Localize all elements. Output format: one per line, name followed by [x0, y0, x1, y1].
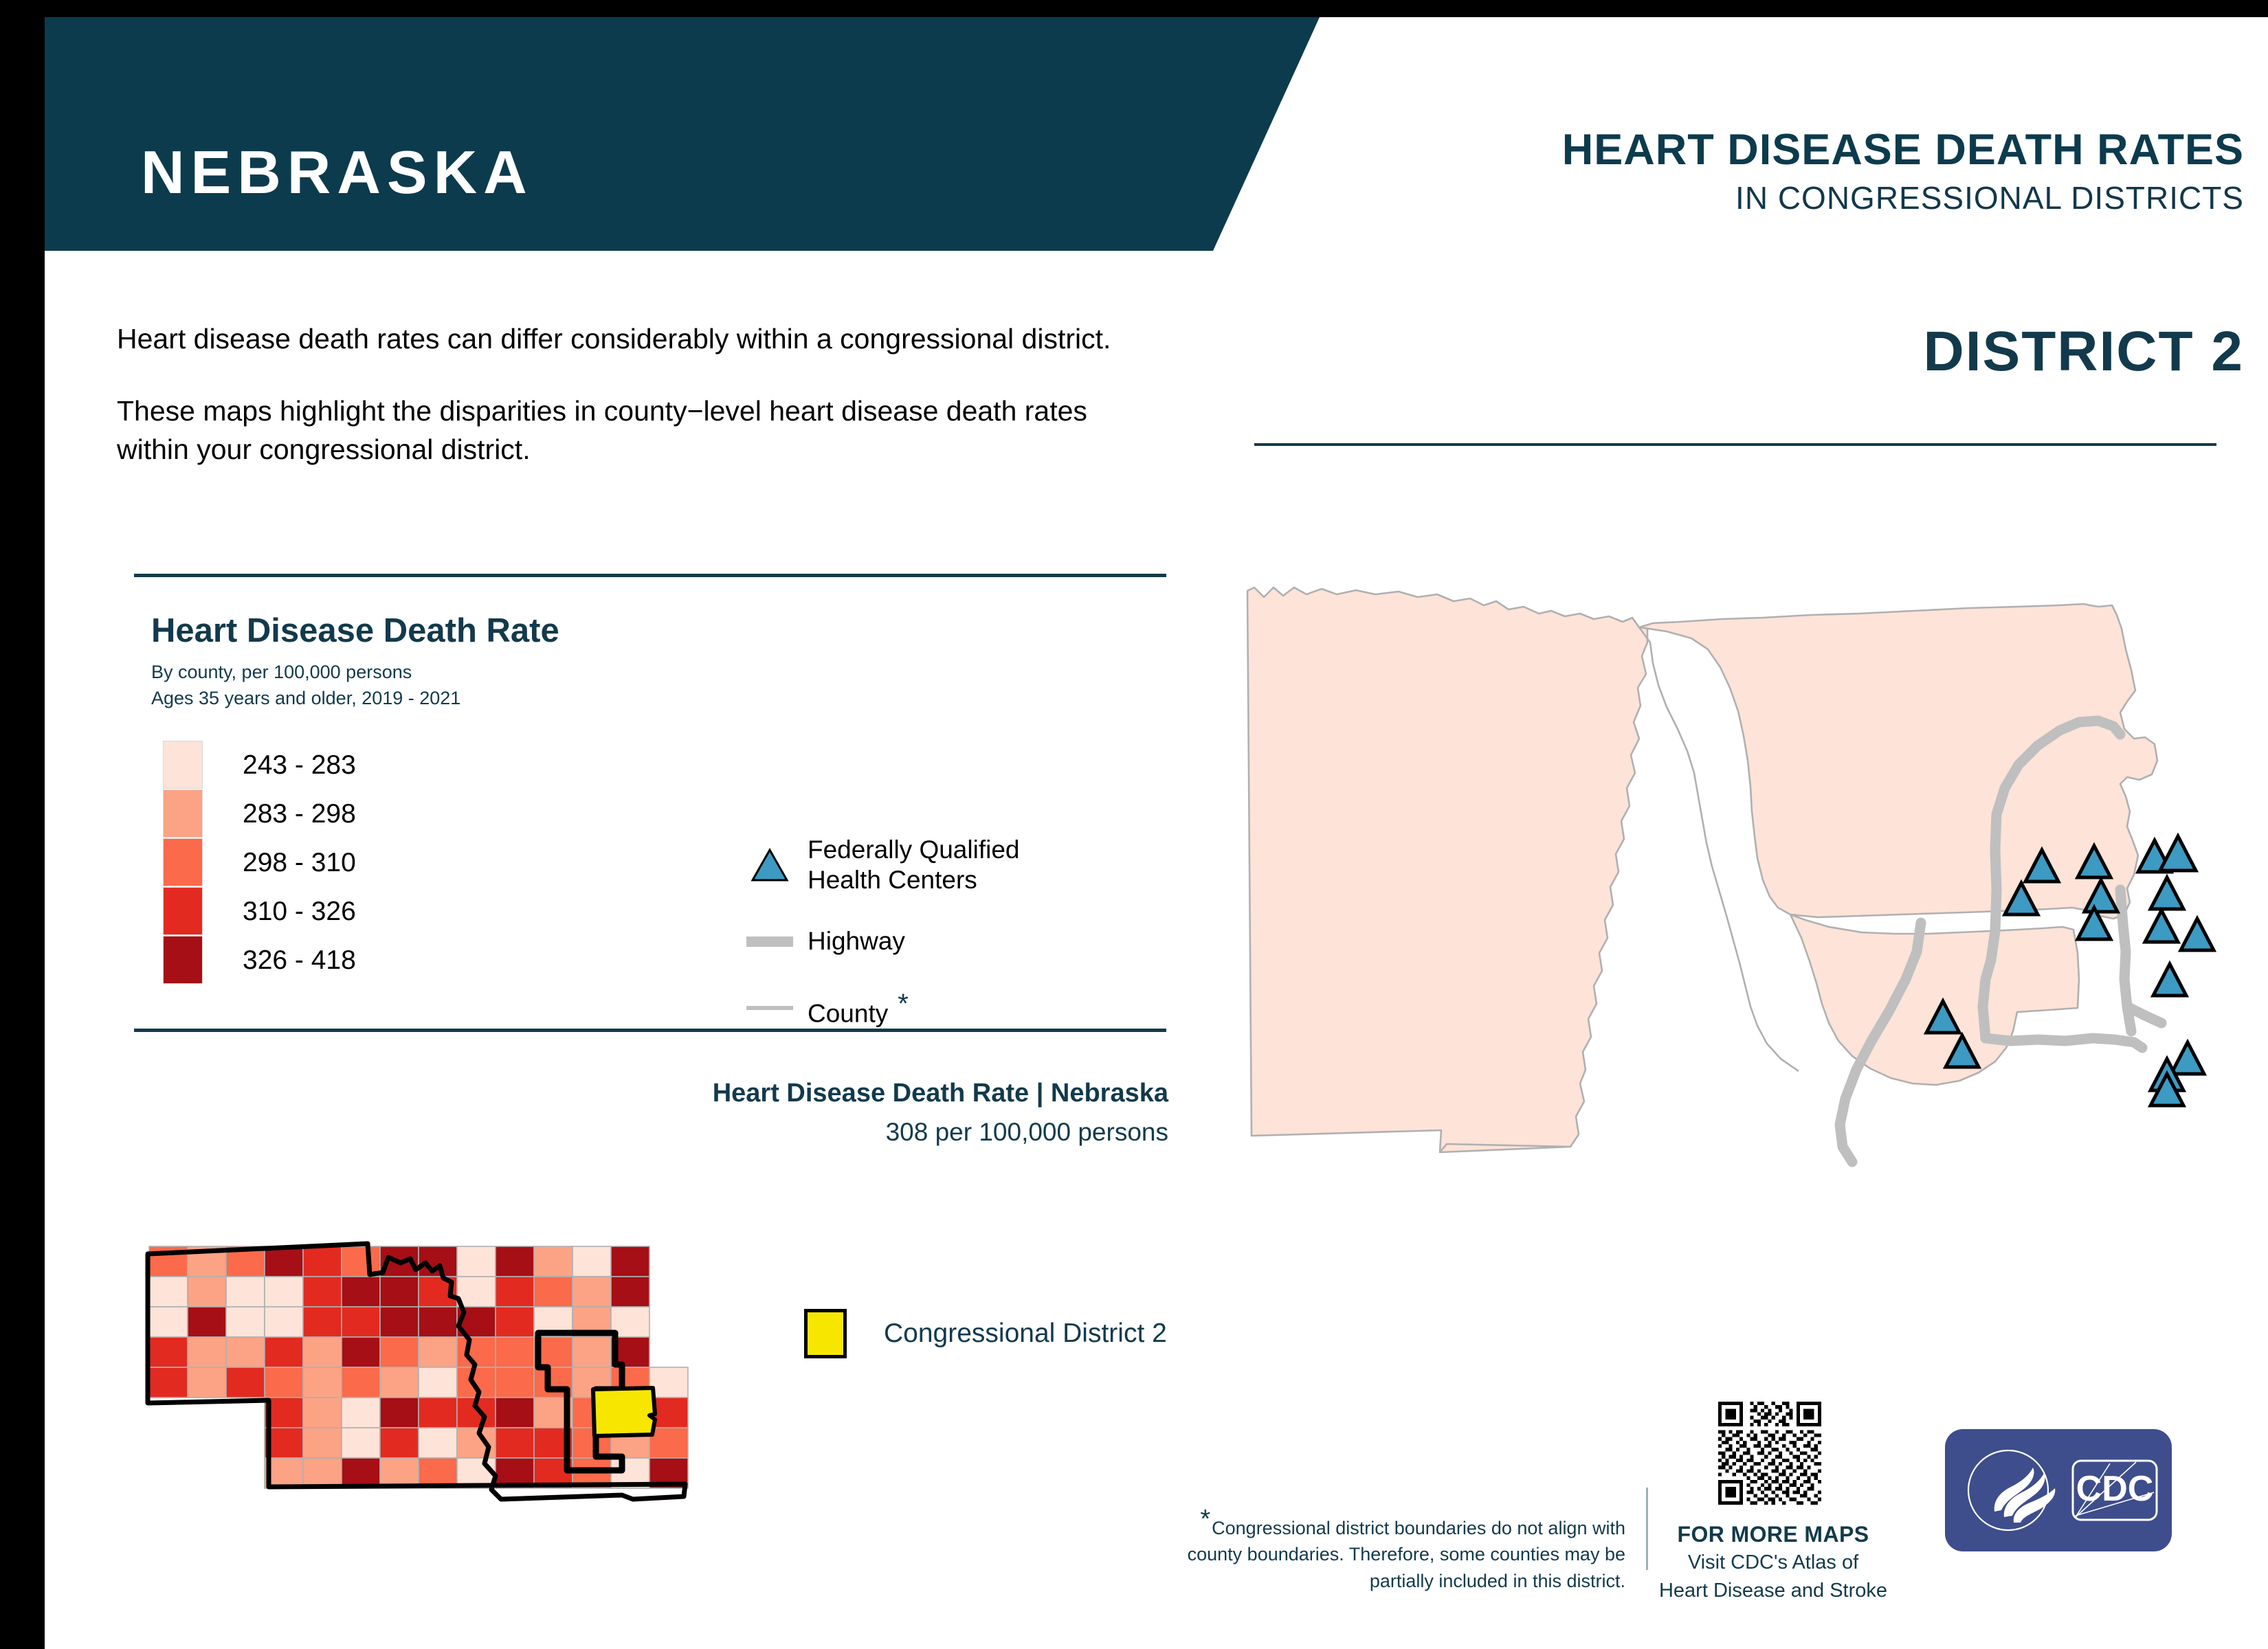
state-map-county [303, 1458, 342, 1488]
qr-code-icon[interactable] [1718, 1402, 1821, 1505]
state-map-county [342, 1458, 380, 1488]
state-map-county [265, 1277, 303, 1307]
state-map-county [188, 1367, 226, 1398]
state-map-county [149, 1307, 188, 1337]
district-legend-label: Congressional District 2 [884, 1319, 1167, 1349]
state-map-county [188, 1337, 226, 1367]
state-map-county [303, 1337, 342, 1367]
county-footnote-asterisk: * [898, 989, 909, 1019]
symbol-legend: Federally Qualified Health Centers Highw… [732, 835, 1172, 1060]
state-map-county [342, 1367, 380, 1398]
state-map-county [303, 1246, 342, 1277]
state-map-county [303, 1307, 342, 1337]
state-map-county [226, 1277, 265, 1307]
state-map-county [342, 1337, 380, 1367]
header-title-block: HEART DISEASE DEATH RATES IN CONGRESSION… [1562, 127, 2244, 216]
state-map-county [457, 1246, 496, 1277]
state-map-county [265, 1246, 303, 1277]
state-map-county [496, 1367, 534, 1398]
for-more-maps-heading: FOR MORE MAPS [1646, 1522, 1900, 1547]
ramp-cell-4 [163, 936, 203, 984]
legend-row-fqhc: Federally Qualified Health Centers [732, 835, 1172, 895]
ramp-label-0: 243 - 283 [243, 741, 356, 789]
ramp-cell-3 [163, 887, 203, 935]
state-map-county [419, 1428, 457, 1458]
legend-title: Heart Disease Death Rate [151, 612, 559, 650]
footnote-text: Congressional district boundaries do not… [1188, 1518, 1625, 1591]
ramp-cell-2 [163, 838, 203, 886]
state-map-county [496, 1398, 534, 1428]
ramp-label-1: 283 - 298 [243, 789, 356, 838]
state-map-county [496, 1246, 534, 1277]
state-rate-value: 308 per 100,000 persons [45, 1118, 1168, 1147]
legend-label-highway: Highway [808, 926, 905, 956]
legend-label-fqhc-line-2: Health Centers [808, 865, 1019, 895]
ramp-cell-0 [163, 741, 203, 789]
state-map-county [342, 1428, 380, 1458]
district-label: DISTRICT 2 [1924, 319, 2244, 384]
district-legend: Congressional District 2 [804, 1309, 1167, 1358]
legend-subtitle: By county, per 100,000 persons Ages 35 y… [151, 660, 460, 712]
state-map-county [380, 1277, 419, 1307]
state-map-county [149, 1337, 188, 1367]
cdc-hhs-logo: DEPARTMENT OF HEALTH & HUMAN SERVICES US… [1945, 1429, 2172, 1551]
district-rule [1254, 443, 2216, 446]
poster-page: NEBRASKA HEART DISEASE DEATH RATES IN CO… [45, 17, 2268, 1649]
state-map-county [534, 1246, 572, 1277]
state-rate-block: Heart Disease Death Rate | Nebraska 308 … [45, 1079, 1168, 1147]
state-map-county [226, 1307, 265, 1337]
intro-paragraph-1: Heart disease death rates can differ con… [117, 319, 1148, 359]
state-map-county [419, 1307, 457, 1337]
state-map-county [419, 1398, 457, 1428]
ramp-cell-1 [163, 789, 203, 838]
legend-label-fqhc-line-1: Federally Qualified [808, 835, 1019, 865]
state-map-county [188, 1277, 226, 1307]
state-map-county [380, 1337, 419, 1367]
county-line-icon [732, 1006, 808, 1010]
ramp-label-3: 310 - 326 [243, 887, 356, 936]
state-map-county [303, 1367, 342, 1398]
state-map-county [380, 1367, 419, 1398]
state-map-county [342, 1277, 380, 1307]
hhs-cdc-logo-icon: DEPARTMENT OF HEALTH & HUMAN SERVICES US… [1945, 1429, 2172, 1551]
state-map-county [457, 1277, 496, 1307]
state-rate-label: Heart Disease Death Rate | Nebraska [45, 1079, 1168, 1108]
ramp-label-4: 326 - 418 [243, 936, 356, 985]
state-map-county [226, 1337, 265, 1367]
for-more-maps-block: FOR MORE MAPS Visit CDC's Atlas of Heart… [1646, 1522, 1900, 1604]
legend-label-county: County* [808, 988, 909, 1029]
state-map-county [303, 1428, 342, 1458]
triangle-icon [751, 848, 789, 882]
legend-subtitle-line-1: By county, per 100,000 persons [151, 660, 460, 686]
ramp-label-2: 298 - 310 [243, 838, 356, 887]
state-map-county [611, 1277, 649, 1307]
legend-label-county-text: County [808, 999, 888, 1027]
svg-text:CDC: CDC [2076, 1469, 2154, 1509]
state-map-county [380, 1428, 419, 1458]
state-map-county [572, 1277, 611, 1307]
state-map-county [496, 1428, 534, 1458]
state-map-county [226, 1367, 265, 1398]
state-map-county [572, 1246, 611, 1277]
state-map-county [572, 1337, 611, 1367]
state-map-county [649, 1428, 688, 1458]
footnote-asterisk: * [1200, 1505, 1210, 1534]
highway-line-icon [732, 936, 808, 947]
state-overview-map [141, 1230, 711, 1518]
state-map-county [188, 1307, 226, 1337]
intro-text: Heart disease death rates can differ con… [117, 319, 1148, 469]
state-map-county [496, 1307, 534, 1337]
state-map-county [342, 1398, 380, 1428]
page-subtitle: IN CONGRESSIONAL DISTRICTS [1562, 179, 2244, 216]
state-map-county [534, 1277, 572, 1307]
footnote: *Congressional district boundaries do no… [1186, 1501, 1625, 1594]
state-map-county [419, 1337, 457, 1367]
district-shape-west [1247, 587, 1647, 1152]
congressional-district-map [1241, 567, 2230, 1185]
district-color-swatch [804, 1309, 847, 1358]
legend-subtitle-line-2: Ages 35 years and older, 2019 - 2021 [151, 686, 460, 712]
state-map-county [149, 1367, 188, 1398]
state-map-county [496, 1277, 534, 1307]
highlighted-district-county [593, 1388, 655, 1436]
state-map-county [149, 1277, 188, 1307]
state-map-county [303, 1398, 342, 1428]
state-map-county [303, 1277, 342, 1307]
state-map-county [419, 1367, 457, 1398]
legend-row-highway: Highway [732, 926, 1172, 956]
state-title: NEBRASKA [141, 137, 533, 207]
divider-top [134, 574, 1166, 577]
legend-row-county: County* [732, 988, 1172, 1029]
state-map-county [496, 1337, 534, 1367]
for-more-maps-line-2: Heart Disease and Stroke [1646, 1578, 1900, 1604]
state-map-county [265, 1307, 303, 1337]
for-more-maps-line-1: Visit CDC's Atlas of [1646, 1550, 1900, 1575]
state-map-county [265, 1337, 303, 1367]
state-map-county [611, 1246, 649, 1277]
state-map-county [342, 1307, 380, 1337]
header-banner: NEBRASKA [45, 17, 1320, 251]
fqhc-triangle-icon [732, 848, 808, 882]
page-title: HEART DISEASE DEATH RATES [1562, 127, 2244, 172]
color-ramp-labels: 243 - 283283 - 298298 - 310310 - 326326 … [243, 741, 356, 985]
intro-paragraph-2: These maps highlight the disparities in … [117, 392, 1148, 469]
legend-label-fqhc: Federally Qualified Health Centers [808, 835, 1019, 895]
state-map-county [265, 1367, 303, 1398]
divider-bottom [134, 1029, 1166, 1032]
color-ramp [163, 741, 203, 985]
state-map-county [380, 1307, 419, 1337]
state-map-county [380, 1398, 419, 1428]
state-map-county [457, 1428, 496, 1458]
district-shape-southeast [1790, 915, 2079, 1085]
